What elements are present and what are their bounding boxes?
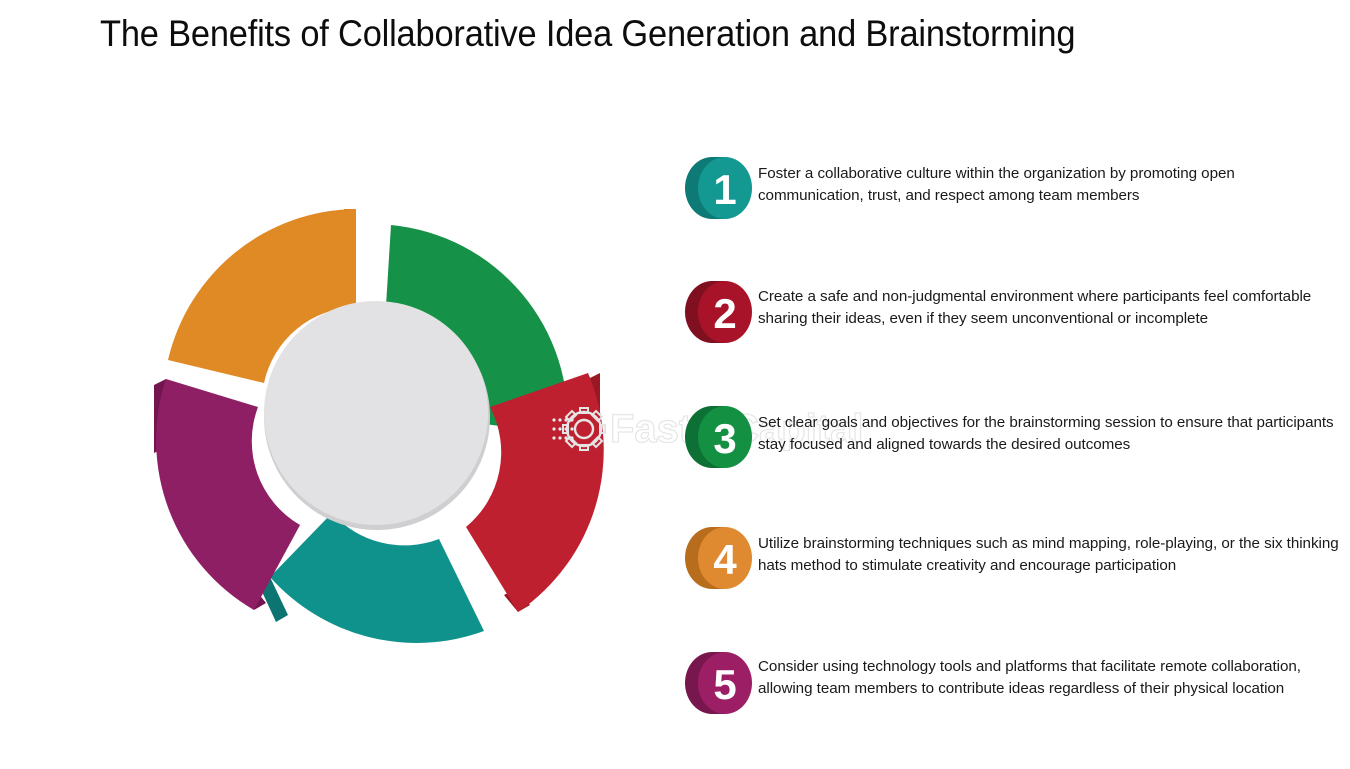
step-text-5: Consider using technology tools and plat… — [758, 656, 1340, 699]
step-number-1: 1 — [713, 166, 736, 213]
step-badge-3: 3 — [680, 397, 760, 477]
step-number-5: 5 — [713, 661, 736, 708]
step-number-4: 4 — [713, 536, 737, 583]
list-item[interactable]: 3 Set clear goals and objectives for the… — [680, 397, 1340, 483]
step-text-3: Set clear goals and objectives for the b… — [758, 412, 1340, 455]
steps-list: 1 Foster a collaborative culture within … — [680, 148, 1340, 748]
step-badge-2: 2 — [680, 272, 760, 352]
step-badge-4: 4 — [680, 518, 760, 598]
list-item[interactable]: 4 Utilize brainstorming techniques such … — [680, 518, 1340, 604]
step-number-2: 2 — [713, 290, 736, 337]
step-text-2: Create a safe and non-judgmental environ… — [758, 286, 1340, 329]
step-badge-1: 1 — [680, 148, 760, 228]
step-text-4: Utilize brainstorming techniques such as… — [758, 533, 1340, 576]
list-item[interactable]: 5 Consider using technology tools and pl… — [680, 643, 1340, 729]
pie-slice-3-face — [270, 513, 484, 643]
list-item[interactable]: 2 Create a safe and non-judgmental envir… — [680, 272, 1340, 358]
step-number-3: 3 — [713, 415, 736, 462]
donut-chart — [148, 185, 608, 655]
list-item[interactable]: 1 Foster a collaborative culture within … — [680, 148, 1340, 234]
donut-hub — [264, 301, 488, 525]
donut-chart-svg — [148, 185, 608, 655]
page-title: The Benefits of Collaborative Idea Gener… — [100, 12, 1151, 56]
step-badge-5: 5 — [680, 643, 760, 723]
step-text-1: Foster a collaborative culture within th… — [758, 163, 1340, 206]
